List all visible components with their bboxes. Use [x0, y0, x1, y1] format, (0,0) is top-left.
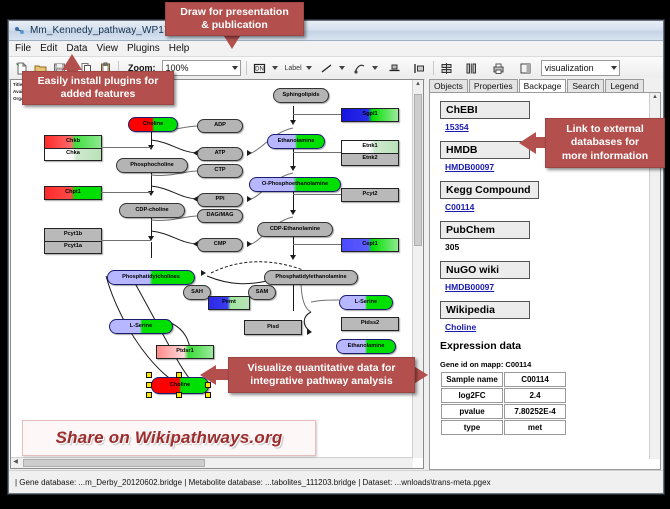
node-ethanolamine[interactable]: Ethanolamine: [267, 134, 325, 149]
callout-visualize: Visualize quantitative data for integrat…: [228, 357, 415, 393]
db-link-wikipedia[interactable]: Choline: [445, 322, 650, 332]
node-l-serine-left[interactable]: L-Serine: [109, 319, 173, 334]
gene-row[interactable]: Etnk1: [342, 141, 398, 154]
gene-row[interactable]: Ptdss2: [342, 318, 398, 330]
gene-box-pisd[interactable]: Pisd: [244, 320, 302, 335]
node-l-serine-right[interactable]: L-Serine: [339, 295, 393, 310]
menu-file[interactable]: File: [15, 43, 31, 54]
gene-box-etnk1-etnk2[interactable]: Etnk1 Etnk2: [341, 140, 399, 166]
gene-box-pcyt2[interactable]: Pcyt2: [341, 188, 399, 202]
label-tool-text[interactable]: Label: [285, 65, 302, 72]
gene-box-chkb-chka[interactable]: Chkb Chka: [44, 135, 102, 161]
expr-value: 7.80252E-4: [504, 404, 566, 419]
callout-visualize-stem-left: [215, 369, 229, 380]
sidebar-tabs: Objects Properties Backpage Search Legen…: [425, 78, 663, 92]
status-text: | Gene database: ...m_Derby_20120602.bri…: [9, 478, 491, 487]
node-adp[interactable]: ADP: [197, 119, 243, 133]
link-cept1-chain: [293, 244, 341, 245]
status-bar: | Gene database: ...m_Derby_20120602.bri…: [9, 470, 663, 493]
node-choline-top[interactable]: Choline: [128, 117, 178, 132]
edge-into-pc: [151, 242, 152, 258]
callout-links-line2: databases for: [571, 136, 639, 149]
table-row: log2FC 2.4: [441, 388, 566, 403]
arrowhead-icon: [290, 255, 296, 260]
db-header-nugo: NuGO wiki: [440, 261, 530, 279]
scroll-left-icon[interactable]: ◀: [11, 458, 20, 467]
toolbar-separator-4: [433, 61, 434, 75]
callout-links-line1: Link to external: [566, 123, 644, 136]
chevron-down-icon: [232, 66, 238, 70]
gene-row[interactable]: Pcyt1a: [45, 242, 101, 254]
edge-pe-down: [293, 283, 294, 311]
gene-box-cept1[interactable]: Cept1: [341, 238, 399, 252]
node-sphingolipids[interactable]: Sphingolipids: [273, 88, 329, 103]
gene-row[interactable]: Pemt: [209, 297, 249, 309]
gene-row[interactable]: Pcyt2: [342, 189, 398, 201]
callout-plugins-line2: added features: [61, 88, 136, 101]
callout-draw-line2: & publication: [201, 19, 268, 32]
db-header-wikipedia: Wikipedia: [440, 301, 530, 319]
link-chpt1-chain: [100, 192, 151, 193]
callout-share: Share on Wikipathways.org: [22, 420, 316, 456]
svg-text:DN: DN: [255, 66, 264, 72]
line-dropdown-icon[interactable]: [339, 66, 345, 70]
selection-handle[interactable]: [146, 392, 152, 398]
expr-label: Sample name: [441, 372, 503, 387]
node-cdp-ethanolamine[interactable]: CDP-Ethanolamine: [257, 222, 333, 237]
gene-row[interactable]: Sgpl1: [342, 109, 398, 121]
distribute-icon[interactable]: [464, 60, 480, 76]
db-block-nugo: NuGO wiki HMDB00097: [440, 260, 650, 292]
arrowhead-icon: [247, 241, 252, 247]
print-icon[interactable]: [491, 60, 507, 76]
interaction-icon[interactable]: [352, 60, 368, 76]
visualization-value: visualization: [545, 63, 594, 73]
tab-properties[interactable]: Properties: [469, 79, 518, 92]
db-link-kegg[interactable]: C00114: [445, 202, 650, 212]
line-icon[interactable]: [319, 60, 335, 76]
expression-table: Sample name C00114 log2FC 2.4 pvalue 7.8…: [440, 371, 567, 436]
datanode-icon[interactable]: DN: [252, 60, 268, 76]
menu-data[interactable]: Data: [66, 43, 87, 54]
callout-plugins-line1: Easily install plugins for: [38, 75, 159, 88]
link-sgpl1-chain: [293, 114, 341, 115]
callout-links: Link to external databases for more info…: [545, 118, 665, 168]
gene-box-sgpl1[interactable]: Sgpl1: [341, 108, 399, 122]
gene-row[interactable]: Ptdsr1: [157, 346, 213, 358]
tab-legend[interactable]: Legend: [605, 79, 643, 92]
gene-row[interactable]: Pisd: [245, 321, 301, 334]
label-dropdown-icon[interactable]: [306, 66, 312, 70]
db-value-pubchem: 305: [445, 242, 650, 252]
pathway-canvas-panel[interactable]: Title: Availa Organ: [10, 79, 424, 469]
selection-handle[interactable]: [146, 382, 152, 388]
db-block-wikipedia: Wikipedia Choline: [440, 300, 650, 332]
canvas-vscroll-thumb[interactable]: [414, 94, 422, 246]
gene-box-ptdss2[interactable]: Ptdss2: [341, 317, 399, 331]
node-cdp-choline[interactable]: CDP-choline: [119, 203, 185, 218]
gene-row[interactable]: Pcyt1b: [45, 229, 101, 242]
pathway-canvas[interactable]: Title: Availa Organ: [11, 80, 423, 468]
expr-label: pvalue: [441, 404, 503, 419]
db-block-pubchem: PubChem 305: [440, 220, 650, 252]
tab-backpage[interactable]: Backpage: [519, 79, 567, 92]
expr-label: log2FC: [441, 388, 503, 403]
tab-objects[interactable]: Objects: [429, 79, 468, 92]
arrowhead-icon: [247, 196, 252, 202]
gene-row[interactable]: Chka: [45, 149, 101, 161]
node-ctp[interactable]: CTP: [197, 164, 243, 178]
align-icon[interactable]: [387, 60, 403, 76]
arrowhead-icon: [290, 210, 296, 215]
node-dag-mag[interactable]: DAG/MAG: [197, 209, 243, 223]
menu-plugins[interactable]: Plugins: [127, 43, 160, 54]
sidebar-toggle-icon[interactable]: [518, 60, 534, 76]
link-pcyt1-chain: [100, 240, 151, 241]
arrowhead-icon: [290, 120, 296, 125]
gene-row[interactable]: Cept1: [342, 239, 398, 251]
callout-links-line3: more information: [562, 150, 648, 163]
node-cmp[interactable]: CMP: [197, 238, 243, 252]
title-bar: Mm_Kennedy_pathway_WP1771_45176.gpml: [9, 21, 663, 41]
arrowhead-icon: [290, 166, 296, 171]
menu-help[interactable]: Help: [169, 43, 190, 54]
visualization-combo[interactable]: visualization: [541, 60, 620, 76]
selection-handle[interactable]: [176, 392, 182, 398]
callout-visualize-line2: integrative pathway analysis: [250, 375, 392, 388]
node-phosphocholine[interactable]: Phosphocholine: [116, 158, 188, 173]
gene-box-pemt[interactable]: Pemt: [208, 296, 250, 310]
callout-plugins: Easily install plugins for added feature…: [22, 71, 174, 105]
arrowhead-icon: [247, 150, 252, 156]
toolbar-separator-3: [246, 61, 247, 75]
group-icon[interactable]: [412, 60, 428, 76]
node-phosphatidylcholines[interactable]: Phosphatidylcholines: [107, 270, 195, 285]
link-chkb-chain: [100, 147, 151, 148]
gene-row[interactable]: Chpt1: [45, 187, 101, 199]
db-header-chebi: ChEBI: [440, 101, 530, 119]
callout-draw-line1: Draw for presentation: [180, 6, 289, 19]
arrowhead-icon: [307, 329, 312, 335]
screenshot-root: Mm_Kennedy_pathway_WP1771_45176.gpml Fil…: [0, 0, 670, 509]
selection-handle[interactable]: [176, 372, 182, 378]
node-ppi[interactable]: PPi: [197, 193, 243, 207]
table-row: pvalue 7.80252E-4: [441, 404, 566, 419]
node-ethanolamine-bottom[interactable]: Ethanolamine: [336, 339, 396, 354]
callout-share-text: Share on Wikipathways.org: [56, 428, 283, 448]
table-row: Sample name C00114: [441, 372, 566, 387]
gene-row[interactable]: Chkb: [45, 136, 101, 149]
node-o-phosphoethanolamine[interactable]: O-Phosphoethanolamine: [249, 177, 341, 192]
db-header-pubchem: PubChem: [440, 221, 530, 239]
callout-visualize-line1: Visualize quantitative data for: [247, 362, 395, 375]
db-header-kegg: Kegg Compound: [440, 181, 539, 199]
tab-search[interactable]: Search: [567, 79, 604, 92]
node-sam[interactable]: SAM: [248, 285, 276, 300]
gene-box-chpt1[interactable]: Chpt1: [44, 186, 102, 200]
expr-value: met: [504, 420, 566, 435]
arrowhead-icon: [201, 270, 206, 276]
canvas-hscroll-thumb[interactable]: [23, 459, 205, 467]
gene-id-line: Gene id on mapp: C00114: [440, 360, 650, 369]
scroll-up-icon[interactable]: ▲: [650, 93, 660, 102]
node-atp[interactable]: ATP: [197, 147, 243, 161]
node-sah[interactable]: SAH: [183, 285, 211, 300]
gene-row[interactable]: Etnk2: [342, 154, 398, 166]
selection-handle[interactable]: [205, 392, 211, 398]
db-link-nugo[interactable]: HMDB00097: [445, 282, 650, 292]
expression-data-heading: Expression data: [440, 340, 650, 352]
scroll-up-icon[interactable]: ▲: [413, 80, 423, 89]
link-pcyt2-chain: [293, 194, 341, 195]
db-header-hmdb: HMDB: [440, 141, 530, 159]
menu-view[interactable]: View: [96, 43, 118, 54]
callout-links-pointer: [519, 132, 536, 154]
menu-edit[interactable]: Edit: [40, 43, 57, 54]
expr-value: C00114: [504, 372, 566, 387]
callout-draw: Draw for presentation & publication: [165, 2, 304, 36]
datanode-dropdown-icon[interactable]: [272, 66, 278, 70]
table-row: type met: [441, 420, 566, 435]
canvas-hscrollbar[interactable]: ◀: [11, 457, 413, 468]
interaction-dropdown-icon[interactable]: [372, 66, 378, 70]
node-phosphatidylethanolamine[interactable]: Phosphatidylethanolamine: [264, 270, 358, 285]
gene-box-pcyt1b-pcyt1a[interactable]: Pcyt1b Pcyt1a: [44, 228, 102, 254]
callout-visualize-pointer-left: [200, 365, 216, 385]
gene-box-ptdsr1[interactable]: Ptdsr1: [156, 345, 214, 359]
selection-handle[interactable]: [146, 372, 152, 378]
canvas-vscrollbar[interactable]: ▲: [412, 80, 423, 458]
app-icon: [14, 25, 25, 36]
menu-bar: File Edit Data View Plugins Help: [9, 41, 663, 57]
chevron-down-icon: [611, 66, 617, 70]
link-etnk-chain: [293, 152, 341, 153]
expr-value: 2.4: [504, 388, 566, 403]
expr-label: type: [441, 420, 503, 435]
db-block-kegg: Kegg Compound C00114: [440, 180, 650, 212]
stack-icon[interactable]: [439, 60, 455, 76]
